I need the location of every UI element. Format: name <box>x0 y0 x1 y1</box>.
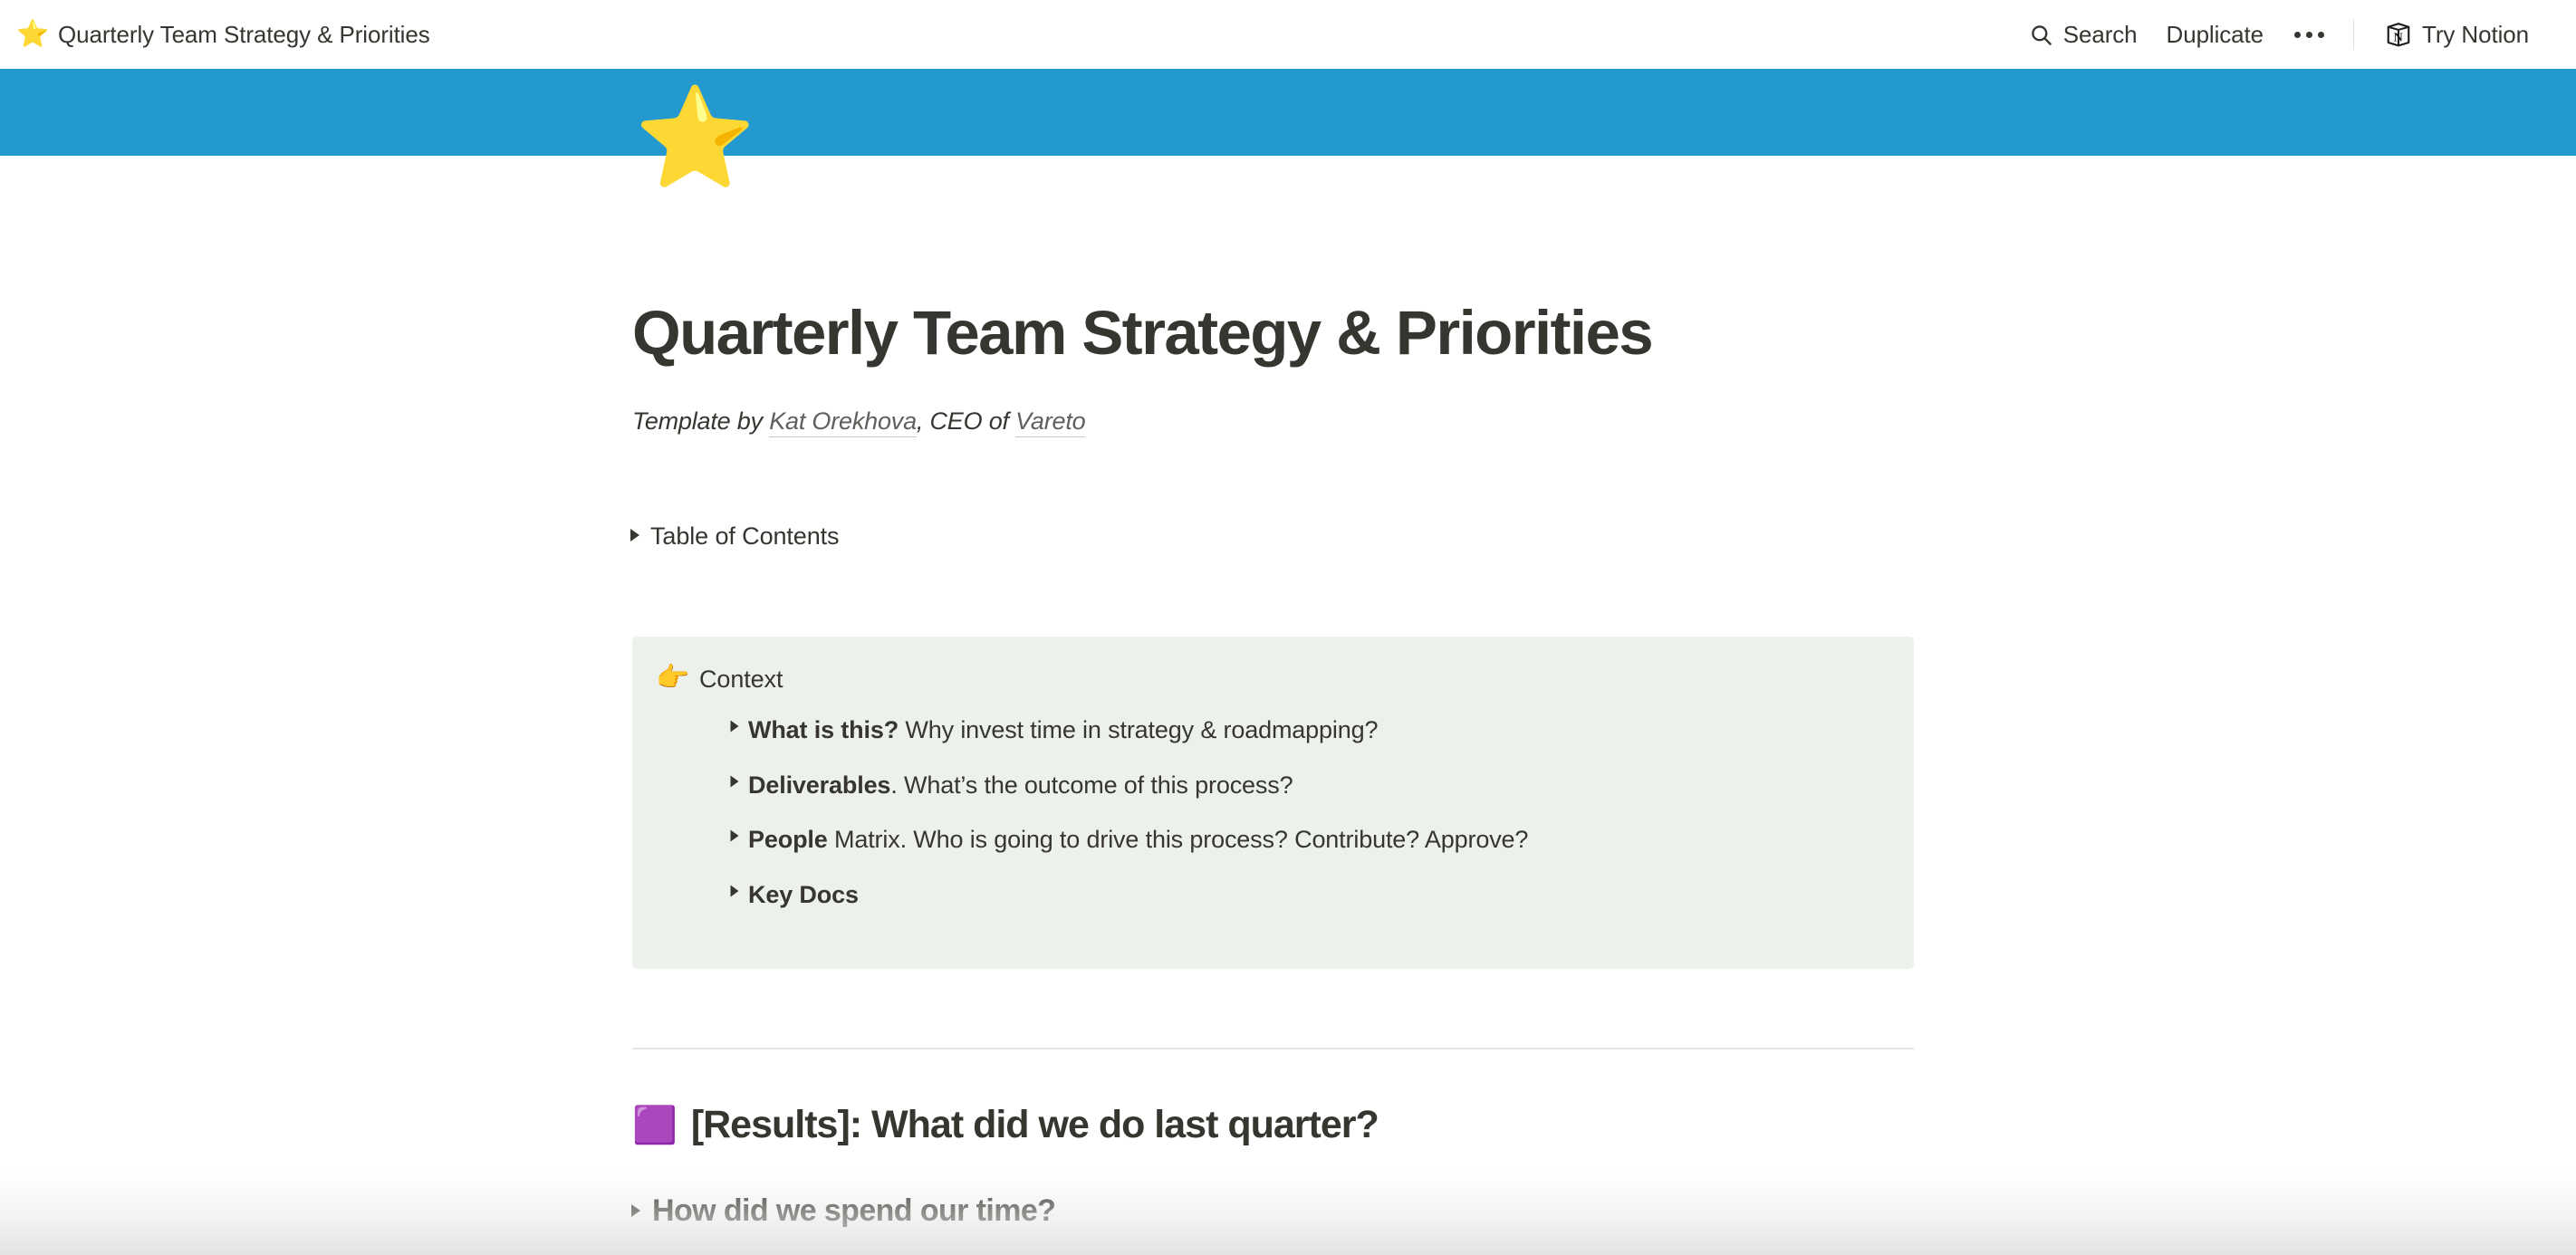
toggle-label-rest: . What’s the outcome of this process? <box>890 771 1293 799</box>
page-body: ⭐ Quarterly Team Strategy & Priorities T… <box>0 0 2576 1255</box>
toggle-table-of-contents[interactable]: Table of Contents <box>620 522 839 551</box>
more-options-button[interactable] <box>2278 21 2341 49</box>
toggle-label: People Matrix. Who is going to drive thi… <box>748 821 1528 858</box>
breadcrumb-document-title[interactable]: Quarterly Team Strategy & Priorities <box>58 21 430 49</box>
search-button[interactable]: Search <box>2014 14 2152 56</box>
search-icon <box>2029 23 2053 47</box>
context-callout-block: 👉 Context What is this? Why invest time … <box>632 637 1914 969</box>
top-navigation-bar: ⭐ Quarterly Team Strategy & Priorities S… <box>0 0 2576 69</box>
toggle-people-matrix[interactable]: People Matrix. Who is going to drive thi… <box>721 821 1887 858</box>
topbar-left-group: ⭐ Quarterly Team Strategy & Priorities <box>16 21 430 49</box>
dot-icon <box>2294 32 2301 38</box>
dot-icon <box>2318 32 2324 38</box>
toggle-label: What is this? Why invest time in strateg… <box>748 712 1378 749</box>
toggle-label-rest: Matrix. Who is going to drive this proce… <box>828 826 1529 853</box>
byline-middle: , CEO of <box>917 407 1015 435</box>
search-button-label: Search <box>2063 21 2138 49</box>
byline-author-link[interactable]: Kat Orekhova <box>769 407 917 437</box>
callout-header: 👉 Context <box>656 660 1887 697</box>
notion-logo-icon: N <box>2385 21 2412 48</box>
toggle-label: Key Docs <box>748 877 859 914</box>
toggle-label-bold: People <box>748 826 828 853</box>
toggle-key-docs[interactable]: Key Docs <box>721 877 1887 914</box>
toggle-label-bold: Key Docs <box>748 881 859 908</box>
results-section-heading: 🟪 [Results]: What did we do last quarter… <box>632 1103 1379 1147</box>
purple-square-icon: 🟪 <box>632 1107 677 1144</box>
star-icon: ⭐ <box>16 22 45 48</box>
toggle-deliverables[interactable]: Deliverables. What’s the outcome of this… <box>721 767 1887 804</box>
topbar-right-group: Search Duplicate N Try Notion <box>2014 14 2543 56</box>
toggle-label-rest: Why invest time in strategy & roadmappin… <box>899 716 1378 743</box>
toggle-label-bold: Deliverables <box>748 771 890 799</box>
toc-label: Table of Contents <box>650 522 839 551</box>
toggle-label-bold: What is this? <box>748 716 899 743</box>
dot-icon <box>2306 32 2312 38</box>
chevron-right-icon <box>721 767 748 789</box>
chevron-right-icon <box>721 877 748 898</box>
page-byline: Template by Kat Orekhova, CEO of Vareto <box>632 405 1085 439</box>
toggle-how-did-we-spend-our-time[interactable]: How did we spend our time? <box>620 1193 1055 1229</box>
duplicate-button-label: Duplicate <box>2167 21 2264 49</box>
chevron-right-icon <box>620 1193 652 1219</box>
duplicate-button[interactable]: Duplicate <box>2152 14 2279 56</box>
try-notion-button[interactable]: N Try Notion <box>2370 14 2543 56</box>
chevron-right-icon <box>620 522 650 543</box>
results-heading-label: [Results]: What did we do last quarter? <box>691 1103 1379 1147</box>
toggle-what-is-this[interactable]: What is this? Why invest time in strateg… <box>721 712 1887 749</box>
callout-heading-label: Context <box>699 660 783 697</box>
page-star-icon[interactable]: ⭐ <box>634 89 755 187</box>
svg-text:N: N <box>2394 31 2403 45</box>
nav-divider <box>2353 19 2354 50</box>
subsection-label: How did we spend our time? <box>652 1193 1055 1229</box>
pointing-right-icon: 👉 <box>656 660 685 695</box>
chevron-right-icon <box>721 821 748 843</box>
try-notion-label: Try Notion <box>2422 21 2529 49</box>
toggle-label: Deliverables. What’s the outcome of this… <box>748 767 1293 804</box>
byline-company-link[interactable]: Vareto <box>1015 407 1085 437</box>
page-title: Quarterly Team Strategy & Priorities <box>632 299 1991 368</box>
chevron-right-icon <box>721 712 748 733</box>
callout-toggle-list: What is this? Why invest time in strateg… <box>721 712 1887 913</box>
byline-prefix: Template by <box>632 407 769 435</box>
section-divider <box>632 1048 1914 1049</box>
